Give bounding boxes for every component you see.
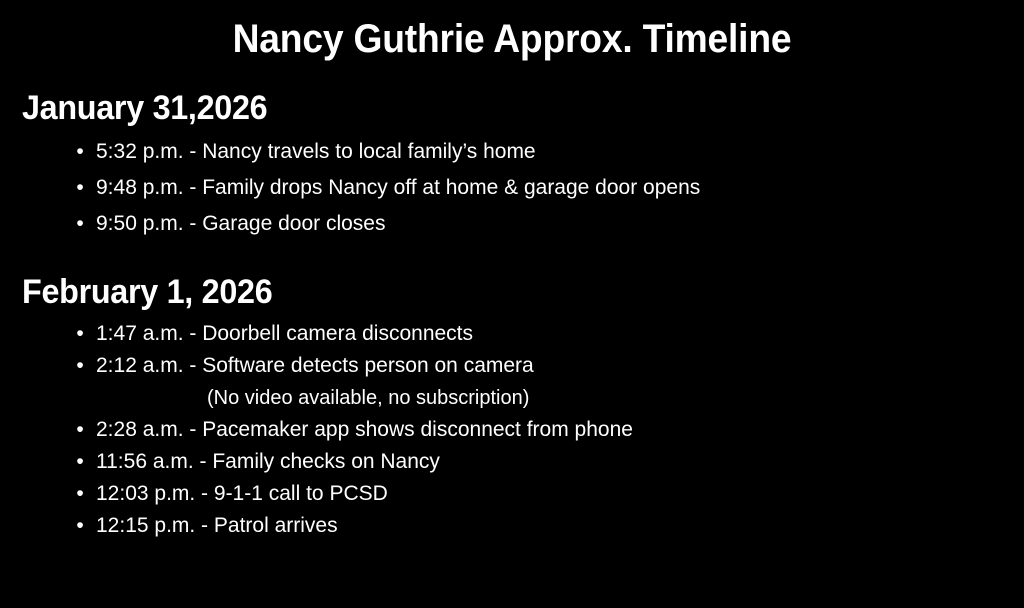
list-item: • 12:03 p.m. - 9-1-1 call to PCSD <box>0 478 1024 510</box>
list-item: • 2:12 a.m. - Software detects person on… <box>0 350 1024 382</box>
bullet-dot-icon: • <box>76 414 84 446</box>
section-february: February 1, 2026 • 1:47 a.m. - Doorbell … <box>0 272 1024 542</box>
timeline-slide: Nancy Guthrie Approx. Timeline January 3… <box>0 0 1024 608</box>
list-item: • 12:15 p.m. - Patrol arrives <box>0 510 1024 542</box>
list-item: • 9:50 p.m. - Garage door closes <box>0 206 1024 242</box>
bullet-dot-icon: • <box>76 446 84 478</box>
section-january: January 31,2026 • 5:32 p.m. - Nancy trav… <box>0 88 1024 242</box>
list-item: • 11:56 a.m. - Family checks on Nancy <box>0 446 1024 478</box>
bullet-dot-icon: • <box>76 170 84 206</box>
list-item-label: 2:12 a.m. - Software detects person on c… <box>96 354 534 377</box>
list-item-label: 2:28 a.m. - Pacemaker app shows disconne… <box>96 418 633 441</box>
list-item-subnote: (No video available, no subscription) <box>0 382 1024 414</box>
bullet-dot-icon: • <box>76 478 84 510</box>
bullet-dot-icon: • <box>76 134 84 170</box>
list-item-label: 12:03 p.m. - 9-1-1 call to PCSD <box>96 482 388 505</box>
list-item-label: 12:15 p.m. - Patrol arrives <box>96 514 338 537</box>
bullet-list-february: • 1:47 a.m. - Doorbell camera disconnect… <box>0 318 1024 542</box>
list-item-label: 9:50 p.m. - Garage door closes <box>96 212 385 235</box>
list-item: • 1:47 a.m. - Doorbell camera disconnect… <box>0 318 1024 350</box>
bullet-dot-icon: • <box>76 318 84 350</box>
list-item: • 5:32 p.m. - Nancy travels to local fam… <box>0 134 1024 170</box>
list-item-label: 1:47 a.m. - Doorbell camera disconnects <box>96 322 473 345</box>
list-item: • 9:48 p.m. - Family drops Nancy off at … <box>0 170 1024 206</box>
bullet-dot-icon: • <box>76 510 84 542</box>
bullet-dot-icon: • <box>76 350 84 382</box>
list-item-label: 9:48 p.m. - Family drops Nancy off at ho… <box>96 176 700 199</box>
list-item: • 2:28 a.m. - Pacemaker app shows discon… <box>0 414 1024 446</box>
bullet-dot-icon: • <box>76 206 84 242</box>
page-title: Nancy Guthrie Approx. Timeline <box>36 16 988 62</box>
section-heading-january: January 31,2026 <box>22 88 974 128</box>
list-item-label: 5:32 p.m. - Nancy travels to local famil… <box>96 140 536 163</box>
bullet-list-january: • 5:32 p.m. - Nancy travels to local fam… <box>0 134 1024 242</box>
list-item-label: 11:56 a.m. - Family checks on Nancy <box>96 450 440 473</box>
section-heading-february: February 1, 2026 <box>22 272 974 312</box>
